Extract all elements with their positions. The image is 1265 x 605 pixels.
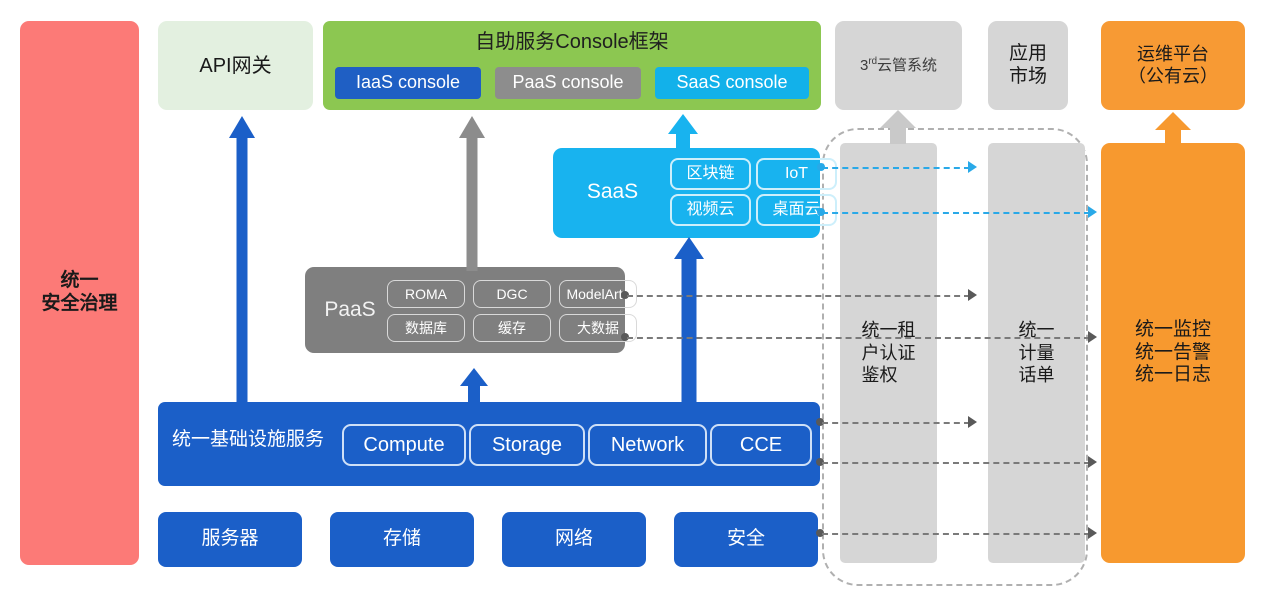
third-party-label: 3rd云管系统 [860, 56, 937, 75]
dashed-paas-to-tenant-auth [627, 295, 970, 297]
iaas-console-label: IaaS console [356, 72, 460, 94]
dashed-saas-to-ops [822, 212, 1090, 214]
dashed-infra-to-ops [822, 462, 1090, 464]
arrow-paas-to-console [458, 116, 486, 271]
resource-box-network: 网络 [502, 512, 646, 567]
arrowhead-saas-to-tenant-auth [968, 161, 977, 173]
infra-item-compute[interactable]: Compute [342, 424, 466, 466]
saas-layer-box: SaaS 区块链 IoT 视频云 桌面云 [553, 148, 820, 238]
dashed-resource-to-ops [822, 533, 1090, 535]
saas-label: SaaS [565, 179, 660, 204]
infra-item-cce[interactable]: CCE [710, 424, 812, 466]
unified-security-governance-panel: 统一 安全治理 [20, 21, 139, 565]
dashed-paas-to-ops [627, 337, 1090, 339]
resource-box-storage: 存储 [330, 512, 474, 567]
dashed-infra-to-tenant-auth [822, 422, 970, 424]
saas-console-label: SaaS console [676, 72, 787, 94]
paas-item-dgc[interactable]: DGC [473, 280, 551, 308]
ops-body-line3: 统一日志 [1135, 364, 1211, 387]
unified-metering-billing-column: 统一 计量 话单 [988, 143, 1085, 563]
security-panel-line2: 安全治理 [41, 293, 117, 316]
arrow-infra-to-saas [674, 237, 704, 405]
third-party-cloud-management-box: 3rd云管系统 [835, 21, 962, 110]
arrowhead-infra-to-tenant-auth [968, 416, 977, 428]
unified-tenant-auth-column: 统一租 户认证 鉴权 [840, 143, 937, 563]
app-market-box: 应用 市场 [988, 21, 1068, 110]
paas-item-database[interactable]: 数据库 [387, 314, 465, 342]
architecture-diagram-canvas: 统一 安全治理 API网关 自助服务Console框架 IaaS console… [0, 0, 1265, 605]
arrow-ops-body-to-ops-platform [1155, 112, 1191, 146]
arrow-infra-to-paas [460, 368, 488, 406]
paas-console-chip[interactable]: PaaS console [495, 67, 641, 99]
ops-platform-line1: 运维平台 [1128, 44, 1218, 66]
app-market-line2: 市场 [1009, 66, 1047, 89]
app-market-line1: 应用 [1009, 43, 1047, 66]
paas-item-roma[interactable]: ROMA [387, 280, 465, 308]
tenant-auth-line3: 鉴权 [862, 364, 916, 387]
third-party-superscript: rd [868, 56, 877, 67]
unified-infrastructure-service-bar: 统一基础设施服务 Compute Storage Network CCE [158, 402, 820, 486]
security-panel-line1: 统一 [41, 270, 117, 293]
arrowhead-infra-to-ops [1088, 456, 1097, 468]
arrowhead-paas-to-tenant-auth [968, 289, 977, 301]
self-service-console-frame: 自助服务Console框架 IaaS console PaaS console … [323, 21, 821, 110]
arrow-saas-to-console [668, 114, 698, 152]
api-gateway-label: API网关 [199, 54, 271, 78]
saas-item-video-cloud[interactable]: 视频云 [670, 194, 751, 226]
console-frame-title: 自助服务Console框架 [323, 30, 821, 54]
resource-box-security: 安全 [674, 512, 818, 567]
ops-body-line2: 统一告警 [1135, 342, 1211, 365]
ops-platform-box: 运维平台 （公有云） [1101, 21, 1245, 110]
ops-platform-line2: （公有云） [1128, 66, 1218, 88]
arrowhead-saas-to-ops [1088, 206, 1097, 218]
infra-item-storage[interactable]: Storage [469, 424, 585, 466]
paas-layer-box: PaaS ROMA DGC ModelArts 数据库 缓存 大数据 [305, 267, 625, 353]
paas-item-cache[interactable]: 缓存 [473, 314, 551, 342]
tenant-auth-line2: 户认证 [862, 342, 916, 365]
arrowhead-resource-to-ops [1088, 527, 1097, 539]
arrow-shared-to-third-party [880, 110, 916, 144]
metering-line3: 话单 [1019, 364, 1055, 387]
saas-console-chip[interactable]: SaaS console [655, 67, 809, 99]
arrowhead-paas-to-ops [1088, 331, 1097, 343]
ops-platform-body: 统一监控 统一告警 统一日志 [1101, 143, 1245, 563]
infra-item-network[interactable]: Network [588, 424, 707, 466]
saas-item-iot[interactable]: IoT [756, 158, 837, 190]
infrastructure-label: 统一基础设施服务 [172, 429, 324, 452]
api-gateway-box: API网关 [158, 21, 313, 110]
ops-body-line1: 统一监控 [1135, 319, 1211, 342]
arrow-infra-to-api-gateway [228, 116, 256, 406]
paas-console-label: PaaS console [512, 72, 623, 94]
iaas-console-chip[interactable]: IaaS console [335, 67, 481, 99]
saas-item-blockchain[interactable]: 区块链 [670, 158, 751, 190]
resource-box-server: 服务器 [158, 512, 302, 567]
metering-line2: 计量 [1019, 342, 1055, 365]
paas-label: PaaS [315, 297, 385, 322]
dashed-saas-to-tenant-auth [822, 167, 970, 169]
